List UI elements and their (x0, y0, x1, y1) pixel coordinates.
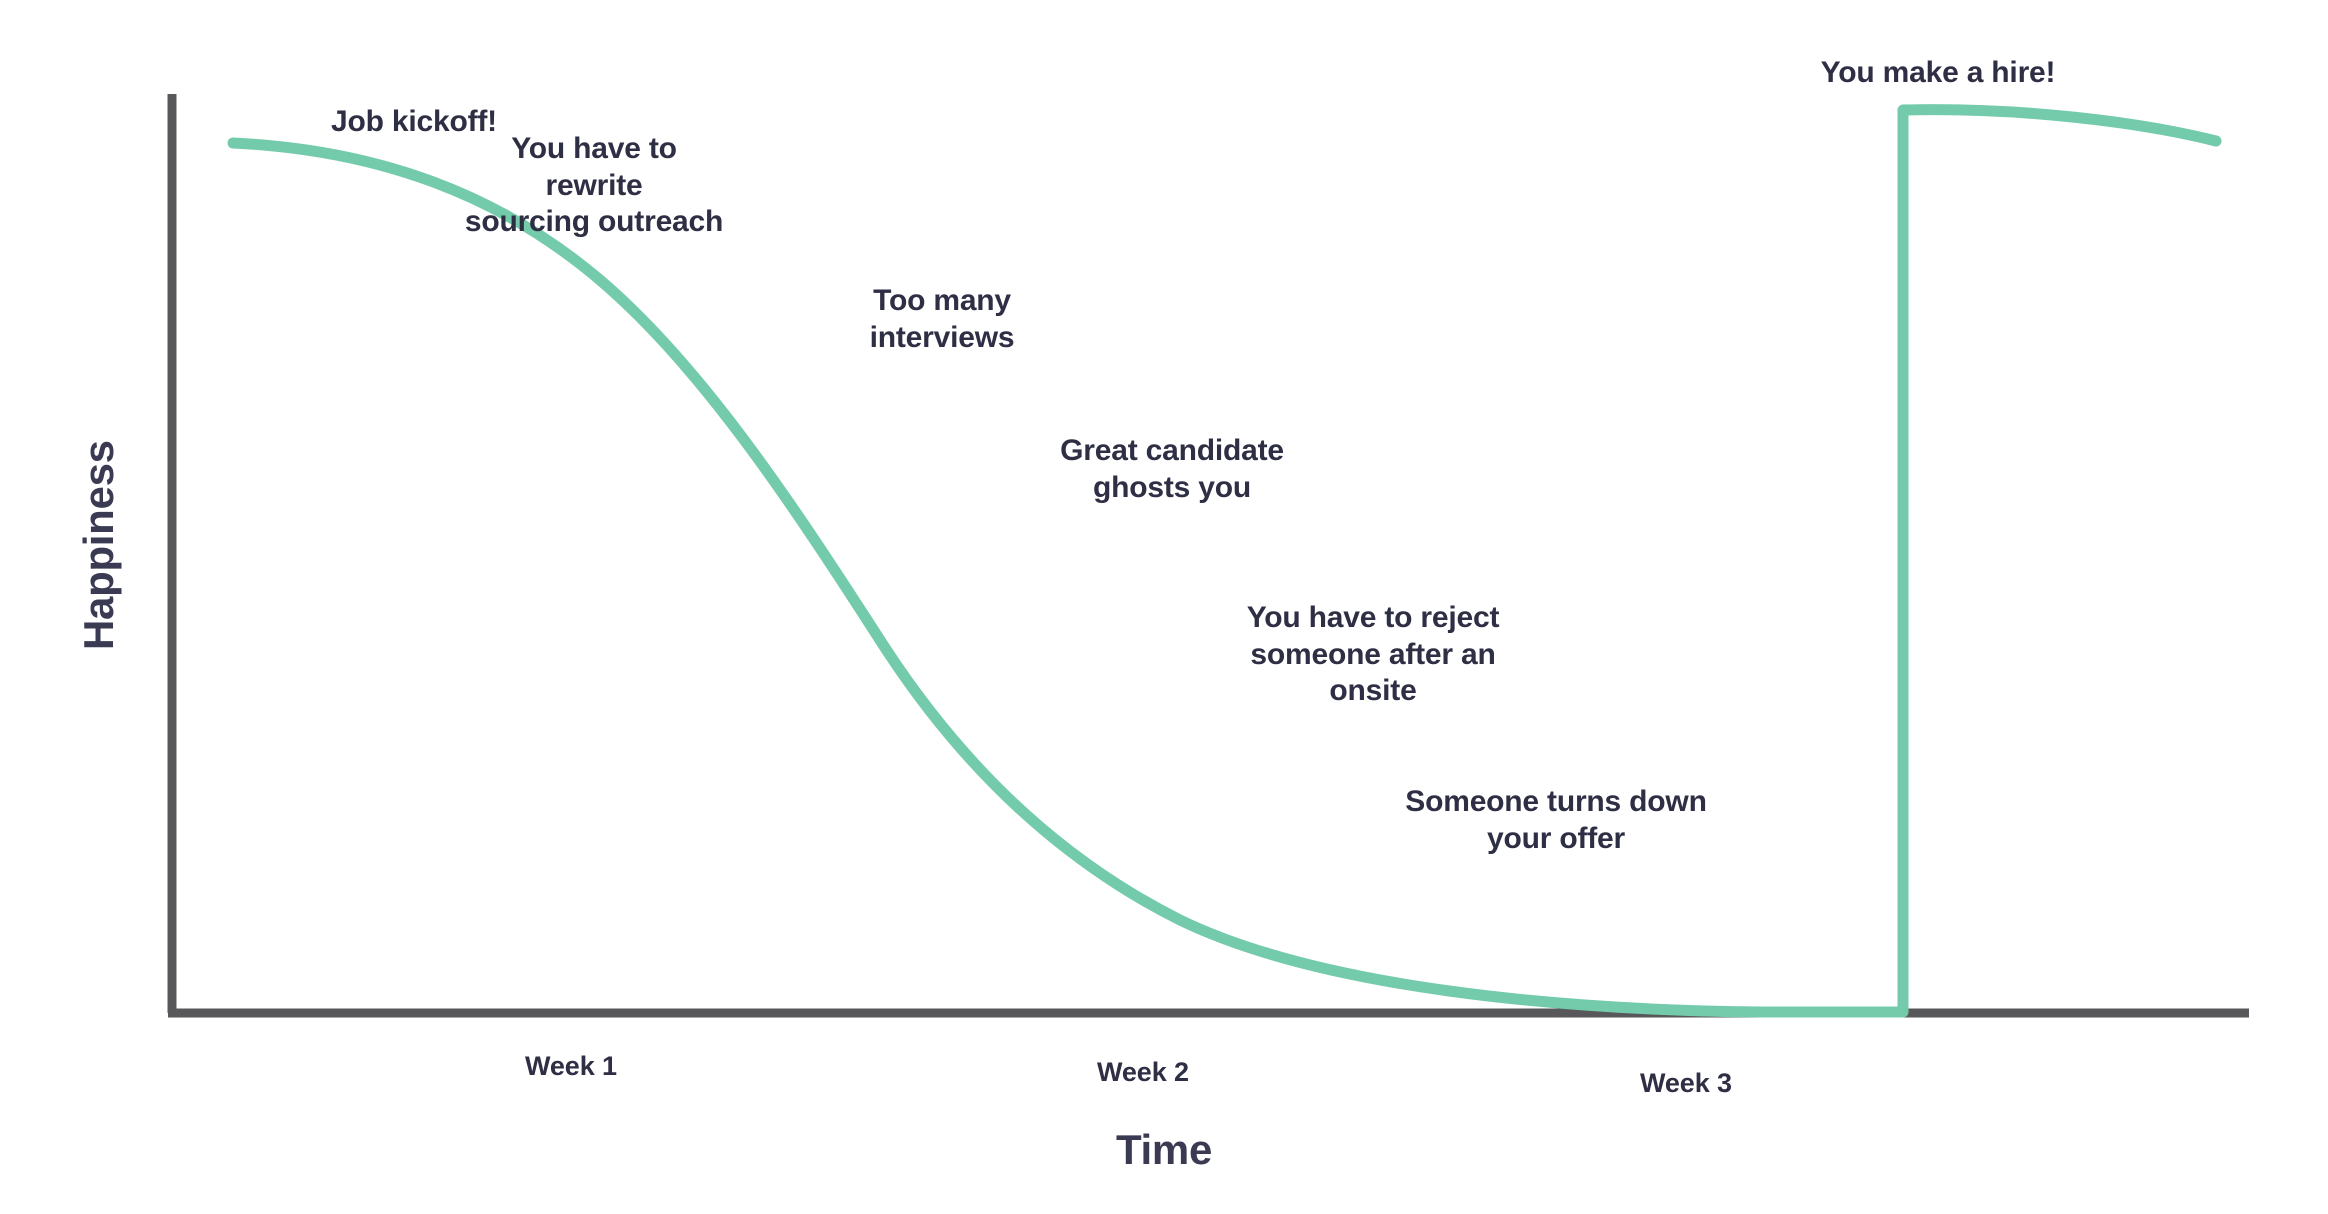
annotation-reject-someone-after-onsite: You have to reject someone after an onsi… (1223, 600, 1523, 710)
annotation-too-many-interviews: Too many interviews (832, 283, 1052, 356)
chart-canvas: Happiness Time Week 1 Week 2 Week 3 Job … (0, 0, 2328, 1214)
happiness-line-chart (0, 0, 2328, 1214)
annotation-you-make-a-hire: You make a hire! (1788, 55, 2088, 92)
x-tick-label-week-1: Week 1 (525, 1051, 617, 1082)
x-axis-title: Time (1116, 1126, 1212, 1174)
x-tick-label-week-2: Week 2 (1097, 1057, 1189, 1088)
annotation-great-candidate-ghosts-you: Great candidate ghosts you (1037, 433, 1307, 506)
annotation-rewrite-sourcing-outreach: You have to rewrite sourcing outreach (459, 131, 729, 241)
annotation-someone-turns-down-your-offer: Someone turns down your offer (1386, 784, 1726, 857)
x-tick-label-week-3: Week 3 (1640, 1068, 1732, 1099)
y-axis-title: Happiness (75, 440, 123, 650)
happiness-curve (233, 110, 2216, 1012)
